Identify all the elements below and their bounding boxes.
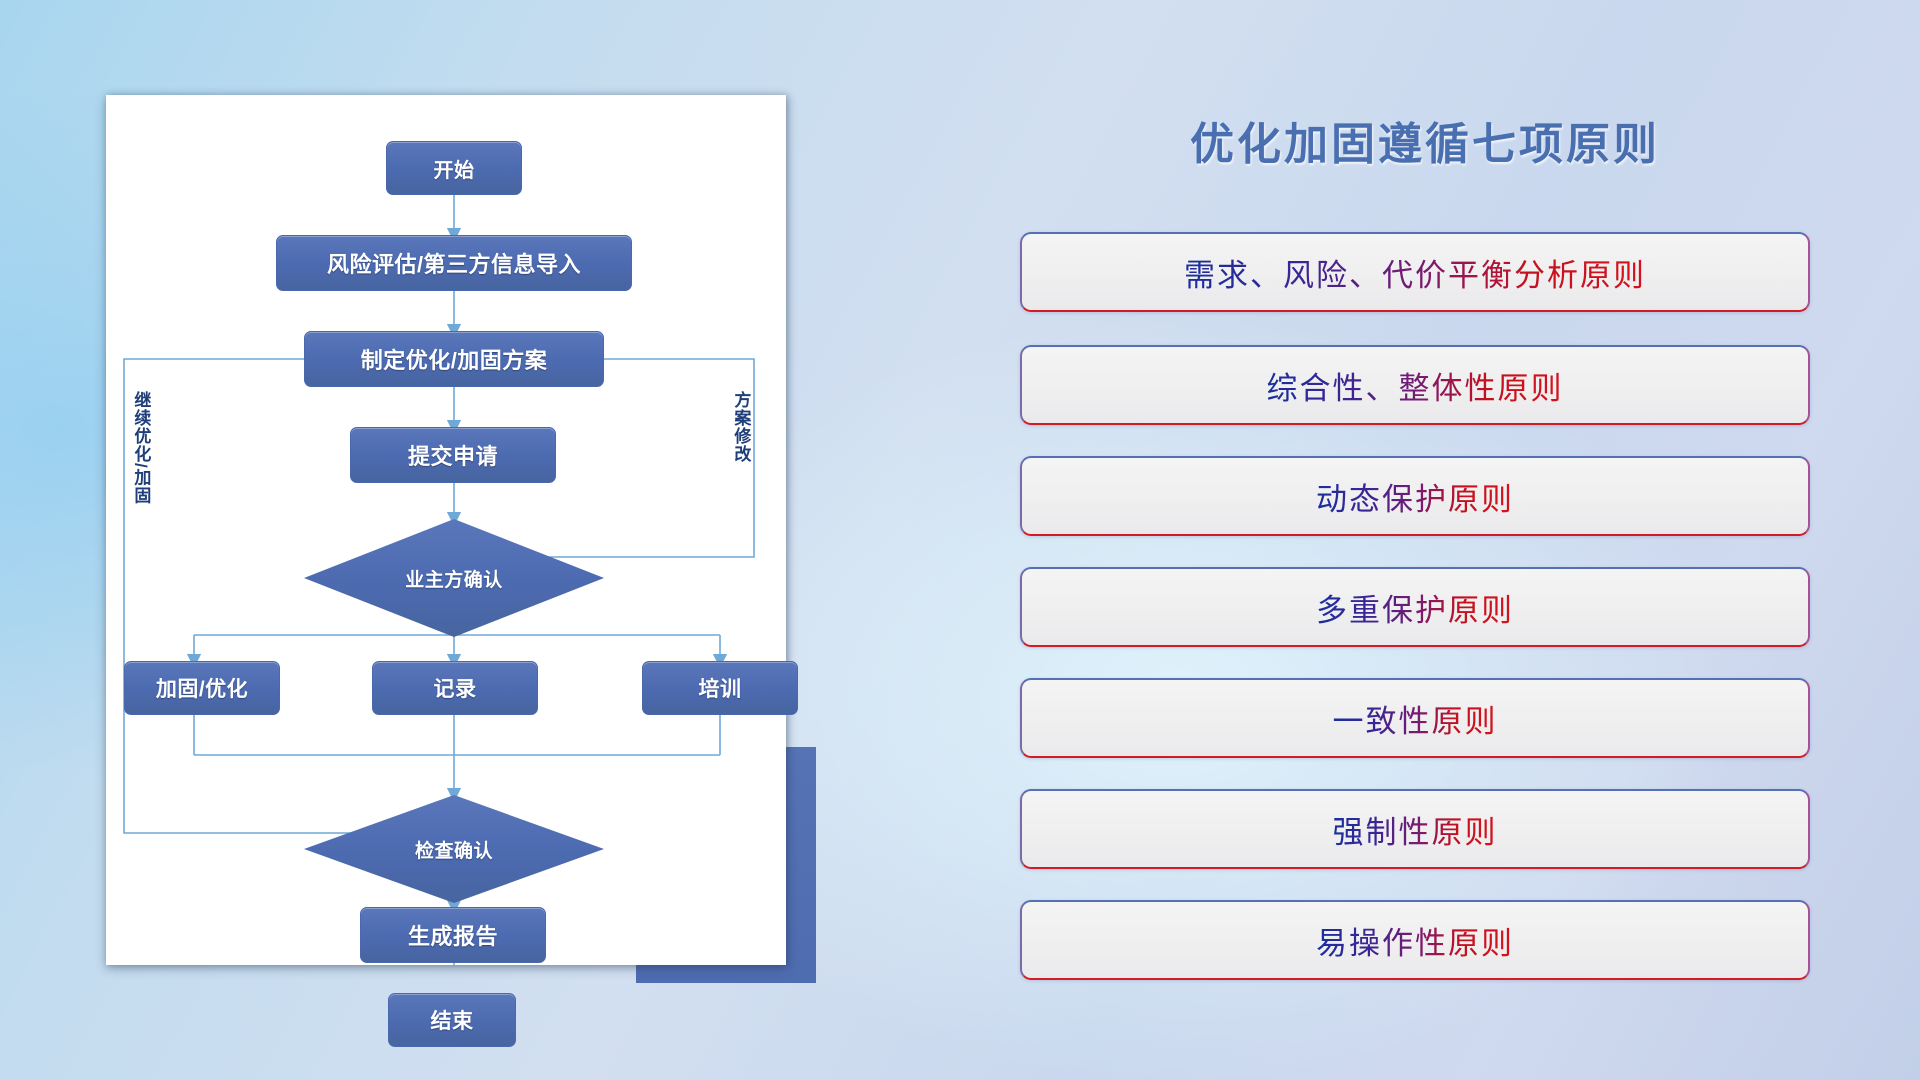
flowchart-panel: 开始 风险评估/第三方信息导入 制定优化/加固方案 提交申请 业主方确认 加固/…: [0, 0, 860, 1080]
flow-node-risk-assessment[interactable]: 风险评估/第三方信息导入: [276, 235, 632, 291]
flow-node-training[interactable]: 培训: [642, 661, 798, 715]
principle-label: 动态保护原则: [1316, 474, 1514, 519]
flow-node-start[interactable]: 开始: [386, 141, 522, 195]
flow-node-label: 制定优化/加固方案: [361, 343, 548, 375]
flow-node-generate-report[interactable]: 生成报告: [360, 907, 546, 963]
principle-item-4[interactable]: 多重保护原则: [1020, 567, 1810, 647]
flow-node-label: 开始: [434, 154, 475, 183]
flow-node-label: 检查确认: [415, 836, 493, 863]
principle-item-1[interactable]: 需求、风险、代价平衡分析原则: [1020, 232, 1810, 312]
flow-node-reinforce[interactable]: 加固/优化: [124, 661, 280, 715]
flowchart-card: 开始 风险评估/第三方信息导入 制定优化/加固方案 提交申请 业主方确认 加固/…: [106, 95, 786, 965]
principle-item-7[interactable]: 易操作性原则: [1020, 900, 1810, 980]
principle-label: 多重保护原则: [1316, 585, 1514, 630]
principle-label: 一致性原则: [1333, 696, 1498, 741]
principle-item-3[interactable]: 动态保护原则: [1020, 456, 1810, 536]
flow-node-label: 业主方确认: [405, 565, 503, 592]
flowchart-canvas: 开始 风险评估/第三方信息导入 制定优化/加固方案 提交申请 业主方确认 加固/…: [106, 95, 786, 965]
flow-node-label: 记录: [434, 673, 477, 703]
flow-node-label: 生成报告: [408, 919, 498, 951]
flow-node-label: 加固/优化: [156, 673, 248, 703]
principle-item-6[interactable]: 强制性原则: [1020, 789, 1810, 869]
flow-node-check-confirm[interactable]: 检查确认: [304, 795, 604, 903]
flow-node-end[interactable]: 结束: [388, 993, 516, 1047]
page-title: 优化加固遵循七项原则: [1010, 108, 1840, 172]
principle-label: 综合性、整体性原则: [1267, 363, 1564, 408]
flow-node-record[interactable]: 记录: [372, 661, 538, 715]
flow-node-submit-application[interactable]: 提交申请: [350, 427, 556, 483]
principle-item-5[interactable]: 一致性原则: [1020, 678, 1810, 758]
principle-item-2[interactable]: 综合性、整体性原则: [1020, 345, 1810, 425]
flow-node-label: 培训: [699, 673, 742, 703]
flow-node-label: 提交申请: [408, 439, 498, 471]
principle-label: 需求、风险、代价平衡分析原则: [1184, 250, 1646, 295]
flow-node-label: 风险评估/第三方信息导入: [327, 247, 581, 279]
flow-node-owner-confirm[interactable]: 业主方确认: [304, 519, 604, 637]
principle-label: 易操作性原则: [1316, 918, 1514, 963]
principles-panel: 优化加固遵循七项原则 需求、风险、代价平衡分析原则 综合性、整体性原则 动态保护…: [1010, 0, 1920, 1080]
flow-node-label: 结束: [431, 1005, 474, 1035]
edge-label-plan-revision: 方案修改: [732, 391, 749, 463]
edge-label-continue-optimize: 继续优化/加固: [132, 391, 149, 505]
principle-label: 强制性原则: [1333, 807, 1498, 852]
flow-node-plan[interactable]: 制定优化/加固方案: [304, 331, 604, 387]
